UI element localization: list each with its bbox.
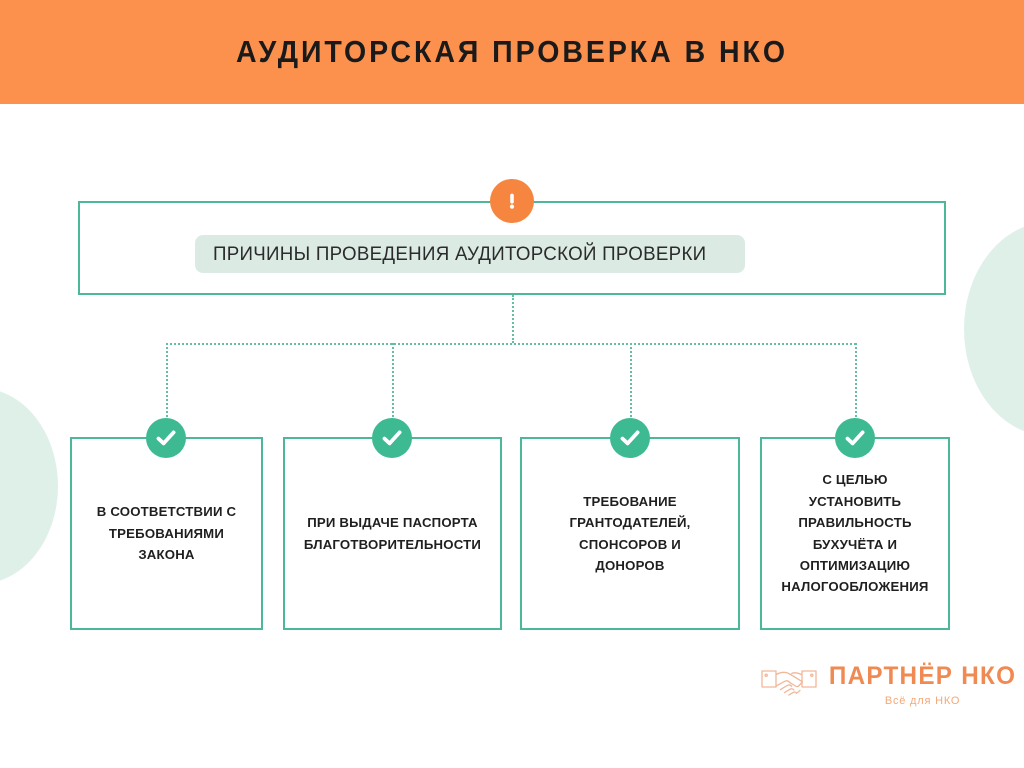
reason-card-3: ТРЕБОВАНИЕ ГРАНТОДАТЕЛЕЙ, СПОНСОРОВ И ДО… [520,437,740,630]
logo-wordmark: ПАРТНЁР НКО Всё для НКО [826,662,1019,707]
header-bar: АУДИТОРСКАЯ ПРОВЕРКА В НКО [0,0,1024,104]
reason-card-1: В СООТВЕТСТВИИ С ТРЕБОВАНИЯМИ ЗАКОНА [70,437,263,630]
connector-horizontal-bus [166,343,856,345]
reason-card-2-text: ПРИ ВЫДАЧЕ ПАСПОРТА БЛАГОТВОРИТЕЛЬНОСТИ [304,512,481,555]
logo-tagline: Всё для НКО [885,696,960,707]
check-icon-1 [146,418,186,458]
connector-branch-2 [392,343,394,421]
root-label-text: ПРИЧИНЫ ПРОВЕДЕНИЯ АУДИТОРСКОЙ ПРОВЕРКИ [213,243,706,266]
decor-arc-right [964,222,1024,436]
brand-logo: ПАРТНЁР НКО Всё для НКО [760,662,1019,707]
reason-card-2: ПРИ ВЫДАЧЕ ПАСПОРТА БЛАГОТВОРИТЕЛЬНОСТИ [283,437,502,630]
check-icon-2 [372,418,412,458]
check-icon-3 [610,418,650,458]
decor-arc-left [0,388,58,584]
reason-card-4-text: С ЦЕЛЬЮ УСТАНОВИТЬ ПРАВИЛЬНОСТЬ БУХУЧЁТА… [781,469,928,597]
exclamation-icon [490,179,534,223]
connector-branch-3 [630,343,632,421]
connector-trunk-vertical [512,295,514,343]
page-title: АУДИТОРСКАЯ ПРОВЕРКА В НКО [236,34,788,70]
connector-branch-4 [855,343,857,421]
handshake-icon [760,662,818,706]
reason-card-4: С ЦЕЛЬЮ УСТАНОВИТЬ ПРАВИЛЬНОСТЬ БУХУЧЁТА… [760,437,950,630]
reason-card-3-text: ТРЕБОВАНИЕ ГРАНТОДАТЕЛЕЙ, СПОНСОРОВ И ДО… [569,491,690,577]
reason-card-1-text: В СООТВЕТСТВИИ С ТРЕБОВАНИЯМИ ЗАКОНА [97,501,236,565]
root-label-pill: ПРИЧИНЫ ПРОВЕДЕНИЯ АУДИТОРСКОЙ ПРОВЕРКИ [195,235,745,273]
logo-name: ПАРТНЁР НКО [829,664,1016,689]
check-icon-4 [835,418,875,458]
connector-branch-1 [166,343,168,421]
